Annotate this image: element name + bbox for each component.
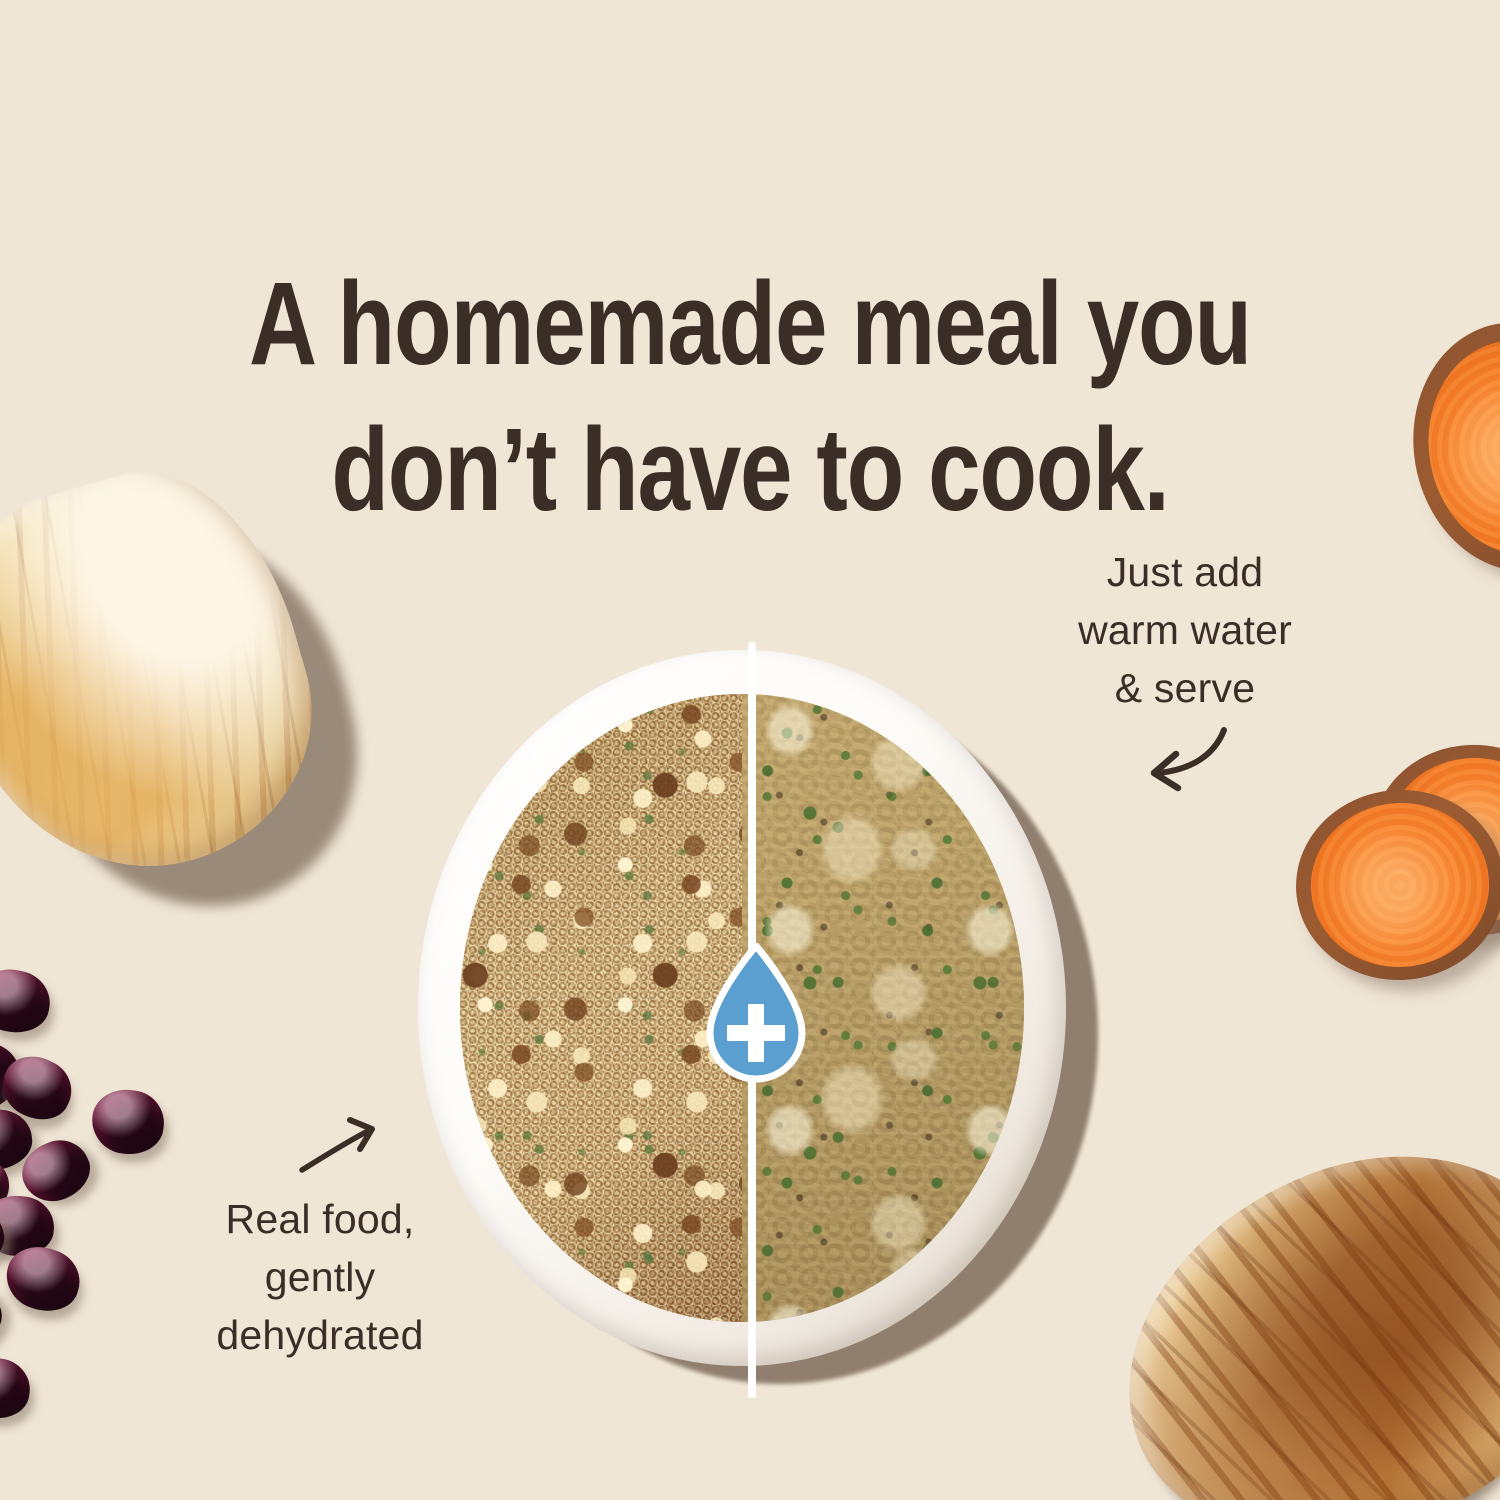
curved-arrow-down-left-icon: [1078, 710, 1258, 805]
headline-line-1: A homemade meal you: [150, 251, 1350, 397]
headline-line-2: don’t have to cook.: [150, 397, 1350, 543]
sweet-potato-slice-image: [1394, 306, 1500, 589]
sweet-potato-slice-image: [1290, 783, 1500, 987]
water-drop-plus-icon: [704, 943, 808, 1083]
annotation-left-line-1: Real food,: [150, 1190, 490, 1248]
cranberry: [0, 963, 56, 1039]
annotation-left-line-3: dehydrated: [150, 1306, 490, 1364]
cranberry: [88, 1085, 168, 1158]
split-bowl-image: [418, 650, 1078, 1390]
annotation-just-add-warm-water: Just add warm water & serve: [1020, 543, 1350, 718]
annotation-real-food-gently-dehydrated: Real food, gently dehydrated: [150, 1190, 490, 1365]
grilled-chicken-breast: [1070, 1095, 1500, 1500]
page-title: A homemade meal you don’t have to cook.: [150, 251, 1350, 544]
sweet-potato-slice: [1394, 306, 1500, 589]
cranberry: [0, 1352, 35, 1423]
grilled-chicken-breast-image: [1100, 1150, 1500, 1500]
promo-banner: A homemade meal you don’t have to cook. …: [0, 0, 1500, 1500]
annotation-right-line-2: warm water: [1020, 601, 1350, 659]
annotation-right-line-3: & serve: [1020, 659, 1350, 717]
annotation-right-line-1: Just add: [1020, 543, 1350, 601]
dry-dehydrated-food-half: [460, 694, 742, 1322]
sweet-potato-slice: [1290, 783, 1500, 987]
curved-arrow-up-right-icon: [288, 1102, 418, 1187]
annotation-left-line-2: gently: [150, 1248, 490, 1306]
